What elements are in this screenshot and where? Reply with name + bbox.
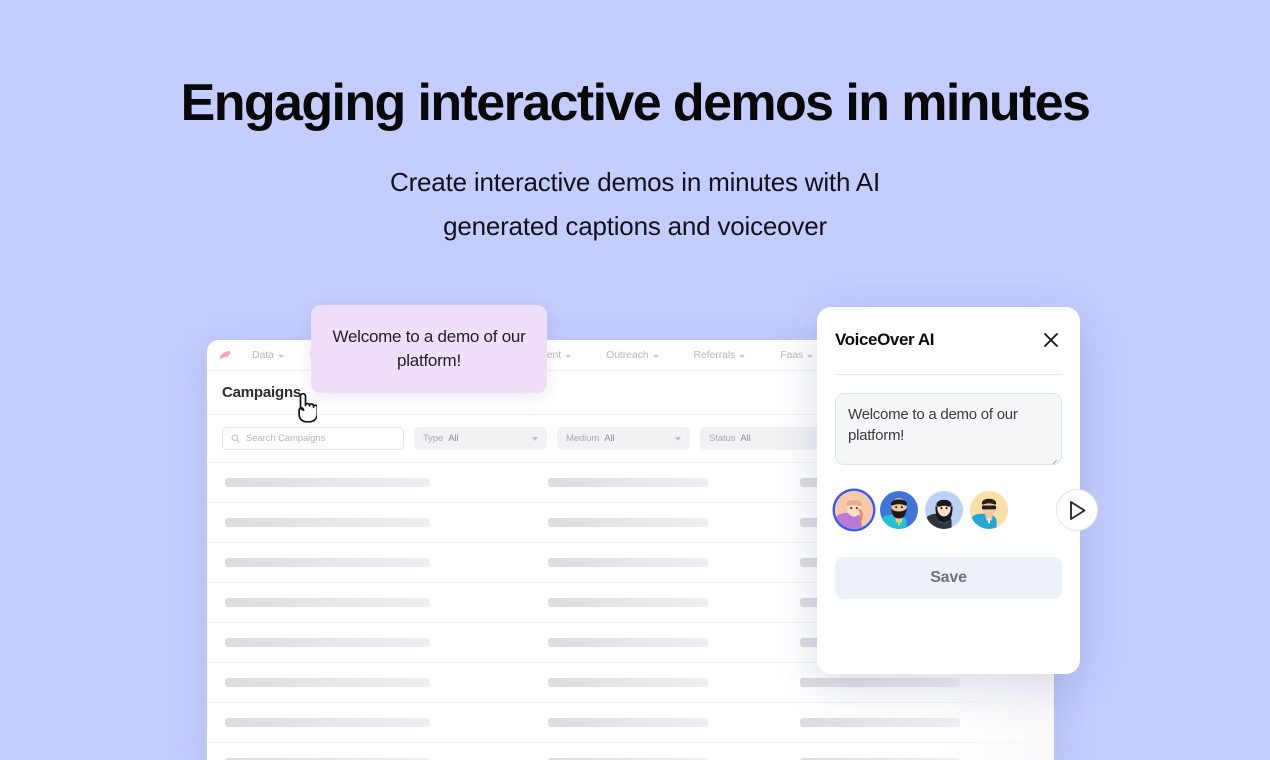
voiceover-panel-header: VoiceOver AI — [835, 307, 1062, 372]
resize-grip-icon[interactable] — [1048, 452, 1058, 462]
nav-item-label: Referrals — [694, 349, 736, 361]
voiceover-avatar-list — [835, 487, 1062, 533]
search-input[interactable]: Search Campaigns — [222, 427, 404, 450]
skeleton-bar — [225, 598, 430, 607]
brand-logo-icon[interactable] — [213, 344, 239, 366]
filter-value: All — [448, 433, 458, 444]
chevron-down-icon — [739, 355, 745, 358]
chevron-down-icon — [653, 355, 659, 358]
skeleton-bar — [225, 718, 430, 727]
chevron-down-icon — [807, 355, 813, 358]
voiceover-ai-panel: VoiceOver AI Welcome to a demo of our pl… — [817, 307, 1080, 674]
filter-label: Status — [709, 433, 735, 444]
filter-type[interactable]: Type All — [414, 427, 547, 450]
filter-medium[interactable]: Medium All — [557, 427, 690, 450]
hero-subtitle: Create interactive demos in minutes with… — [0, 160, 1270, 248]
search-icon — [231, 434, 240, 443]
filter-label: Type — [423, 433, 443, 444]
nav-item-label: Outreach — [606, 349, 648, 361]
skeleton-bar — [548, 518, 708, 527]
chevron-down-icon — [565, 355, 571, 358]
save-button[interactable]: Save — [835, 557, 1062, 599]
hero-subtitle-line-2: generated captions and voiceover — [0, 204, 1270, 248]
skeleton-bar — [225, 678, 430, 687]
skeleton-bar — [225, 558, 430, 567]
voiceover-script-textarea[interactable]: Welcome to a demo of our platform! — [835, 393, 1062, 465]
skeleton-bar — [225, 638, 430, 647]
skeleton-bar — [548, 718, 708, 727]
nav-item-data[interactable]: Data — [239, 349, 297, 361]
skeleton-bar — [548, 678, 708, 687]
caption-text: Welcome to a demo of our platform! — [327, 325, 531, 373]
voiceover-panel-title: VoiceOver AI — [835, 330, 934, 350]
nav-item-label: Faas — [780, 349, 803, 361]
search-placeholder: Search Campaigns — [246, 433, 325, 444]
avatar-woman-dark-hair[interactable] — [925, 491, 963, 529]
skeleton-bar — [225, 478, 430, 487]
table-row[interactable] — [207, 703, 1054, 743]
hero-subtitle-line-1: Create interactive demos in minutes with… — [0, 160, 1270, 204]
skeleton-bar — [548, 558, 708, 567]
nav-item-outreach[interactable]: Outreach — [584, 349, 671, 361]
pointing-hand-cursor — [291, 391, 317, 423]
avatar-man-sunglasses[interactable] — [970, 491, 1008, 529]
skeleton-bar — [800, 678, 960, 687]
save-button-label: Save — [930, 569, 967, 587]
skeleton-bar — [800, 718, 960, 727]
nav-item-referrals[interactable]: Referrals — [672, 349, 759, 361]
filter-label: Medium — [566, 433, 599, 444]
voiceover-script-value: Welcome to a demo of our platform! — [848, 406, 1018, 444]
chevron-down-icon — [675, 437, 681, 441]
avatar-man-beard[interactable] — [880, 491, 918, 529]
skeleton-bar — [548, 598, 708, 607]
panel-divider — [835, 374, 1062, 375]
skeleton-bar — [548, 478, 708, 487]
campaigns-title: Campaigns — [222, 384, 301, 401]
demo-caption-bubble: Welcome to a demo of our platform! — [311, 305, 547, 393]
skeleton-bar — [225, 518, 430, 527]
nav-item-label: Data — [252, 349, 274, 361]
skeleton-bar — [548, 638, 708, 647]
filter-value: All — [740, 433, 750, 444]
play-icon[interactable] — [1056, 489, 1098, 531]
chevron-down-icon — [278, 355, 284, 358]
filter-status[interactable]: Status All — [700, 427, 833, 450]
close-icon[interactable] — [1040, 329, 1062, 351]
nav-item-faas[interactable]: Faas — [758, 349, 826, 361]
table-row[interactable] — [207, 743, 1054, 760]
filter-value: All — [604, 433, 614, 444]
hero-section: Engaging interactive demos in minutes Cr… — [0, 0, 1270, 249]
page-title: Engaging interactive demos in minutes — [0, 74, 1270, 132]
avatar-woman-pink[interactable] — [835, 491, 873, 529]
chevron-down-icon — [532, 437, 538, 441]
